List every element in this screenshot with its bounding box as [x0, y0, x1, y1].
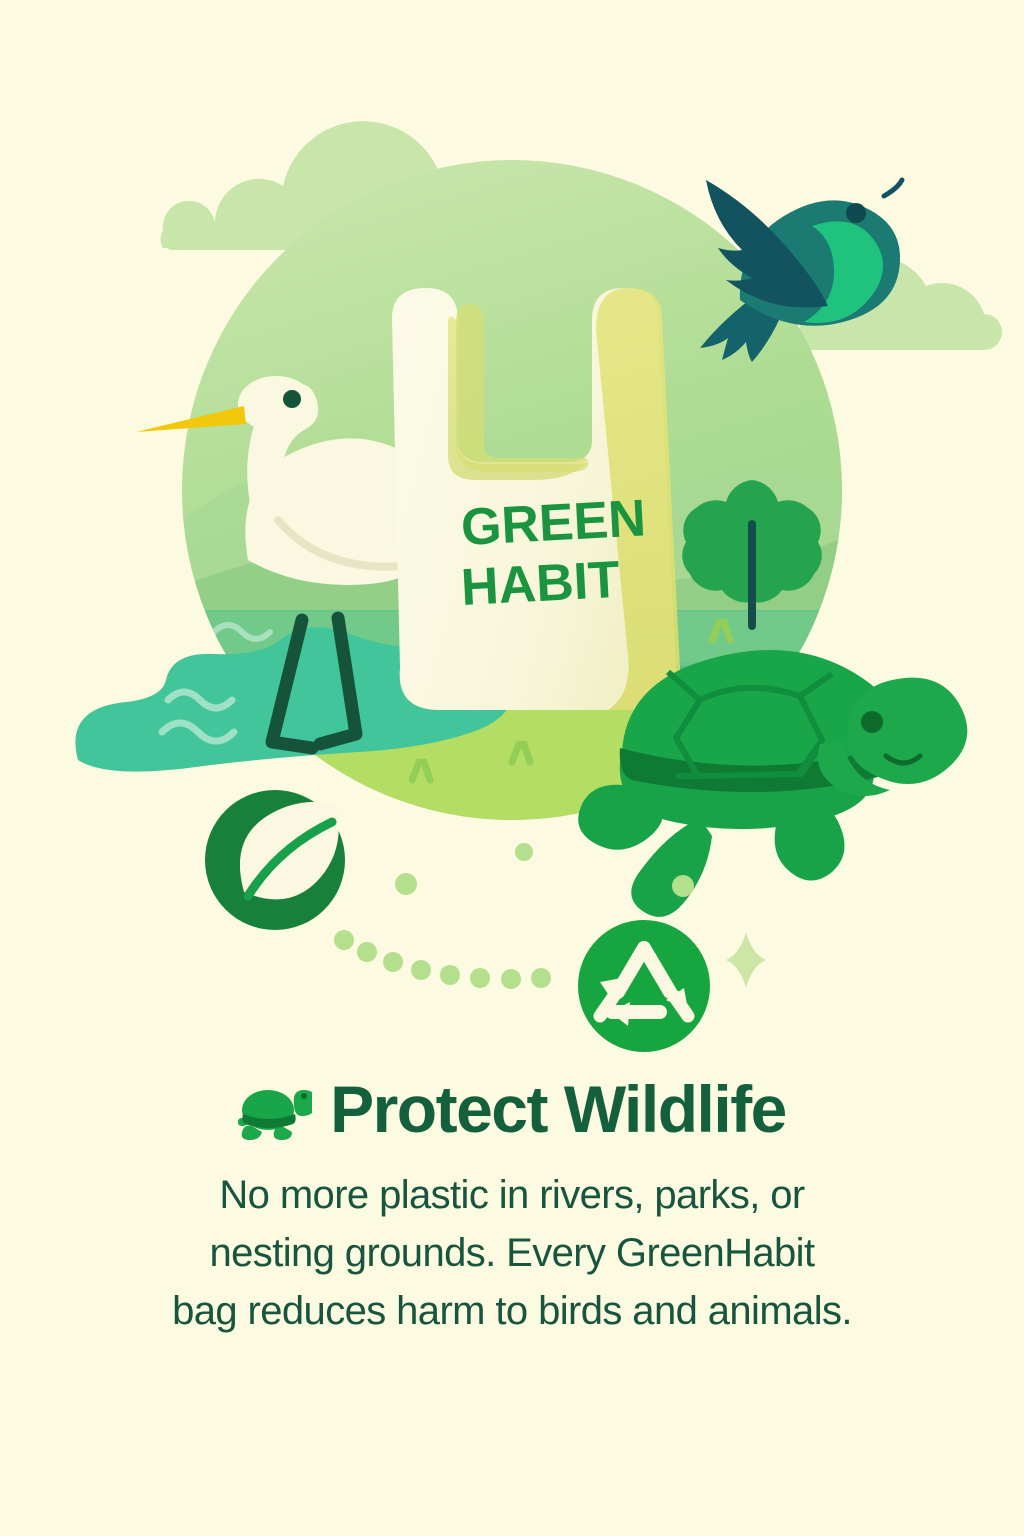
bag-label-line2: HABIT — [460, 551, 622, 617]
bag-label-line1: GREEN — [460, 489, 648, 557]
recycle-badge[interactable] — [578, 920, 710, 1052]
headline-text: Protect Wildlife — [330, 1075, 786, 1144]
caption-block: Protect Wildlife No more plastic in rive… — [0, 1075, 1024, 1340]
page-title: Protect Wildlife — [0, 1075, 1024, 1144]
illustration-svg: GREEN HABIT — [0, 0, 1024, 1060]
body-line-2: nesting grounds. Every GreenHabit — [132, 1224, 892, 1282]
body-line-1: No more plastic in rivers, parks, or — [132, 1166, 892, 1224]
body-line-3: bag reduces harm to birds and animals. — [132, 1282, 892, 1340]
poster: GREEN HABIT — [0, 0, 1024, 1536]
turtle-icon — [238, 1080, 312, 1140]
illustration-area: GREEN HABIT — [0, 0, 1024, 1060]
sparkle-icon — [726, 932, 766, 988]
leaf-badge[interactable] — [205, 790, 345, 930]
body-copy: No more plastic in rivers, parks, or nes… — [132, 1166, 892, 1340]
